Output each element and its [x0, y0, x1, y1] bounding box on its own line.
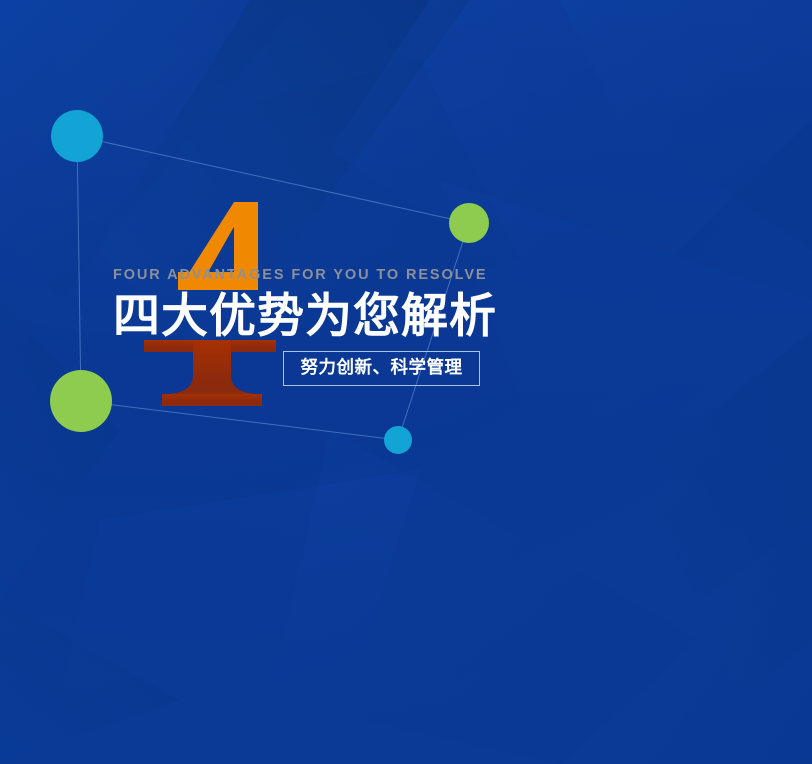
page-title: 四大优势为您解析 [113, 292, 713, 342]
headline-block: FOUR ADVANTAGES FOR YOU TO RESOLVE 四大优势为… [113, 268, 713, 341]
node-cyan-bottom [384, 426, 412, 454]
eyebrow-text: FOUR ADVANTAGES FOR YOU TO RESOLVE [113, 268, 713, 283]
node-green-right [449, 203, 489, 243]
tagline-button[interactable]: 努力创新、科学管理 [283, 351, 480, 386]
tagline-label: 努力创新、科学管理 [301, 360, 463, 378]
node-green-bottom-left [50, 370, 112, 432]
node-cyan-top-left [51, 110, 103, 162]
link-cyan-top-to-green-bottom [77, 136, 81, 401]
promo-banner: FOUR ADVANTAGES FOR YOU TO RESOLVE 四大优势为… [0, 0, 812, 764]
